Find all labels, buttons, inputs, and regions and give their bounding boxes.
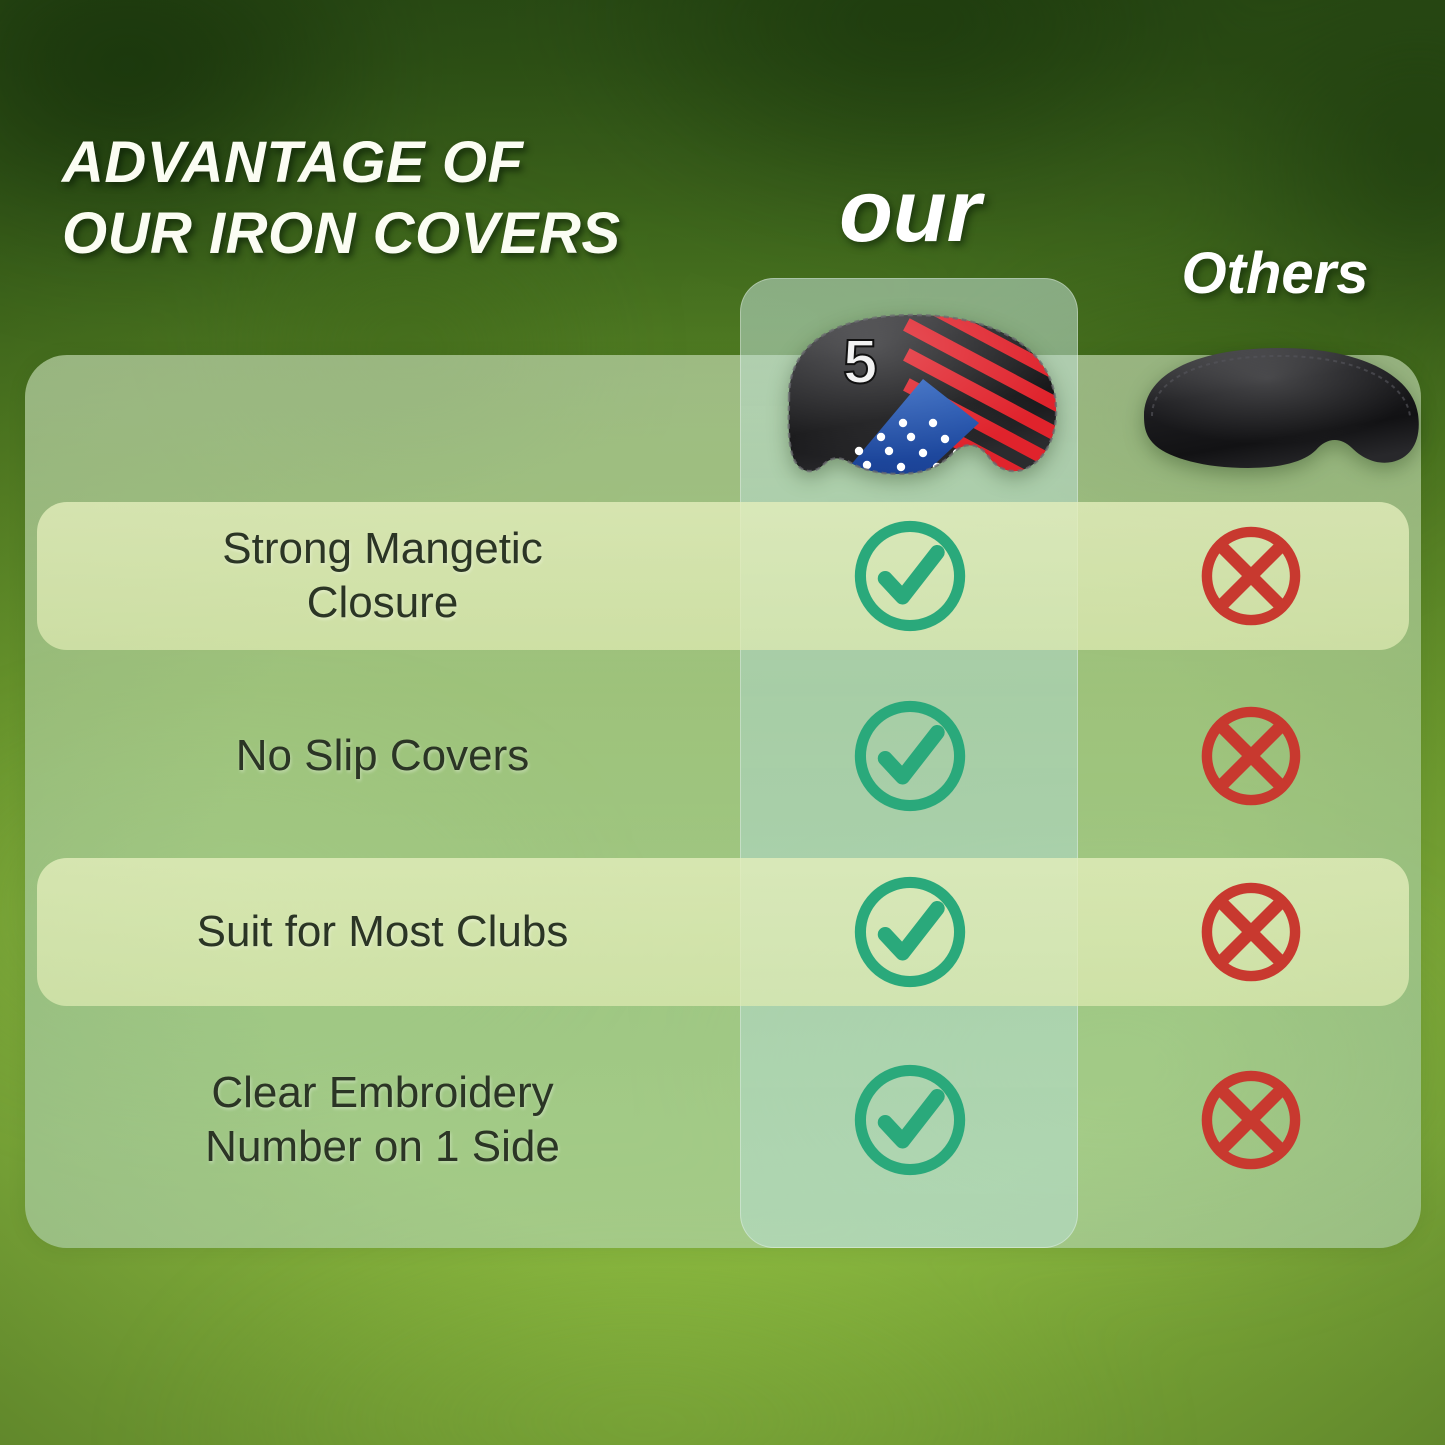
- others-product-image: [1130, 338, 1430, 478]
- feature-row: No Slip Covers: [25, 682, 1421, 830]
- check-circle-icon: [848, 1058, 972, 1182]
- ours-mark-cell: [740, 1058, 1080, 1182]
- ours-mark-cell: [740, 694, 1080, 818]
- column-header-ours: our: [760, 160, 1060, 262]
- check-circle-icon: [848, 694, 972, 818]
- others-mark-cell: [1080, 1062, 1421, 1178]
- cross-circle-icon: [1193, 518, 1309, 634]
- cross-circle-icon: [1193, 1062, 1309, 1178]
- embroidered-number: 5: [843, 328, 877, 397]
- check-circle-icon: [848, 870, 972, 994]
- feature-row: Clear Embroidery Number on 1 Side: [25, 1040, 1421, 1200]
- feature-label: Clear Embroidery Number on 1 Side: [25, 1066, 740, 1173]
- page-title: ADVANTAGE OF OUR IRON COVERS: [62, 128, 762, 270]
- ours-product-image: 5: [747, 305, 1077, 495]
- others-mark-cell: [1080, 874, 1421, 990]
- ours-mark-cell: [740, 870, 1080, 994]
- column-header-others: Others: [1120, 240, 1430, 307]
- feature-label: Strong Mangetic Closure: [25, 522, 740, 629]
- feature-row: Suit for Most Clubs: [25, 858, 1421, 1006]
- cross-circle-icon: [1193, 698, 1309, 814]
- product-image-row: 5: [25, 300, 1421, 505]
- feature-label: No Slip Covers: [25, 729, 740, 783]
- feature-row: Strong Mangetic Closure: [25, 502, 1421, 650]
- cross-circle-icon: [1193, 874, 1309, 990]
- infographic-canvas: ADVANTAGE OF OUR IRON COVERS our Others: [0, 0, 1445, 1445]
- others-mark-cell: [1080, 698, 1421, 814]
- check-circle-icon: [848, 514, 972, 638]
- others-mark-cell: [1080, 518, 1421, 634]
- feature-label: Suit for Most Clubs: [25, 905, 740, 959]
- ours-mark-cell: [740, 514, 1080, 638]
